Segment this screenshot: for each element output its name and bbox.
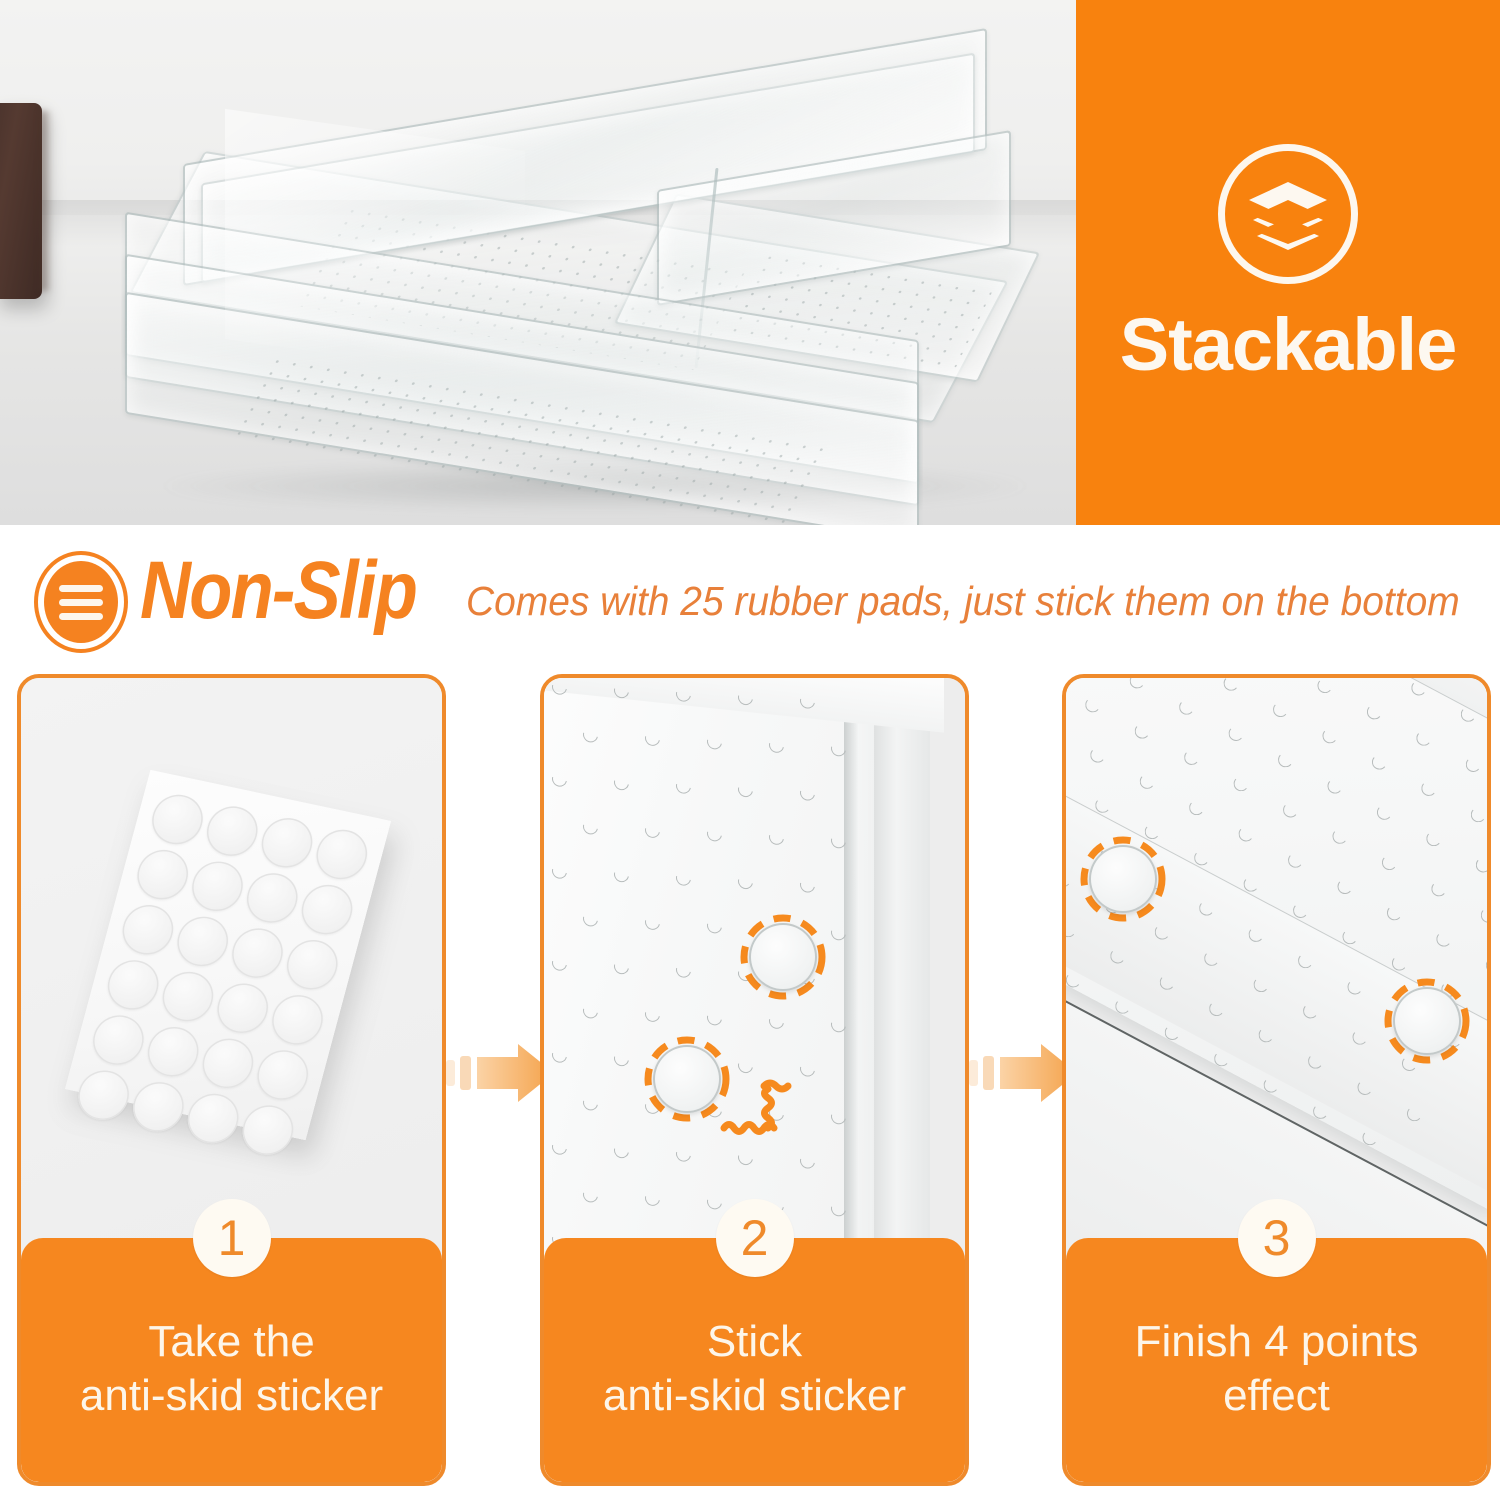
- tray-dimple: [1386, 905, 1402, 921]
- tray-dimple: [1317, 678, 1333, 694]
- tray-dimple: [1460, 706, 1476, 722]
- tray-dimple: [1134, 723, 1150, 739]
- rubber-pad: [127, 1077, 189, 1136]
- tray-dimple: [1357, 1079, 1373, 1095]
- step-1-caption-text: Take the anti-skid sticker: [62, 1315, 401, 1422]
- sticker-sheet: [65, 770, 391, 1140]
- tray-dimple: [1095, 797, 1111, 813]
- tray-dimple: [735, 779, 756, 799]
- tray-dimple: [1337, 879, 1353, 895]
- tray-dimple: [1233, 776, 1249, 792]
- layers-icon: [1218, 144, 1358, 284]
- tray-dimple: [1090, 747, 1106, 763]
- tray-dimple: [1214, 1051, 1230, 1067]
- tray-dimple: [1391, 955, 1407, 971]
- tray-dimple: [797, 783, 818, 803]
- tray-dimple: [1223, 678, 1239, 691]
- step-2-caption-bar: 2 Stick anti-skid sticker: [544, 1238, 965, 1482]
- rubber-pad: [157, 967, 219, 1026]
- tray-dimple: [673, 960, 694, 980]
- rubber-pad: [102, 956, 164, 1015]
- tray-dimple: [1303, 1003, 1319, 1019]
- tray-dimple: [704, 916, 725, 936]
- highlighted-pad-bottom-right: [1384, 978, 1470, 1064]
- brown-box-prop: [0, 103, 42, 299]
- tray-dimple: [735, 871, 756, 891]
- tray-dimple: [1199, 900, 1215, 916]
- tray-dimple: [1288, 852, 1304, 868]
- rubber-pad: [87, 1011, 149, 1070]
- rubber-pad-disc: [1393, 987, 1461, 1055]
- tray-dimple: [766, 827, 787, 847]
- tray-dimple: [549, 769, 570, 789]
- tray-dimple: [1085, 697, 1101, 713]
- stackable-feature-card: Stackable: [1076, 0, 1500, 525]
- tray-dimple: [1283, 802, 1299, 818]
- tray-dimple: [797, 875, 818, 895]
- tray-dimple: [673, 1144, 694, 1164]
- tray-dimple: [1376, 804, 1392, 820]
- tray-dimple: [1066, 972, 1081, 988]
- tray-dimple: [1258, 1027, 1274, 1043]
- rubber-pad: [73, 1066, 135, 1125]
- tray-dimple: [1381, 855, 1397, 871]
- step-2-number: 2: [716, 1199, 794, 1277]
- rubber-pad-disc: [749, 923, 817, 991]
- tray-dimple: [1243, 876, 1259, 892]
- tray-dimple: [1327, 778, 1343, 794]
- tray-dimple: [611, 680, 632, 700]
- step-3-caption-bar: 3 Finish 4 points effect: [1066, 1238, 1487, 1482]
- rubber-pad: [267, 990, 329, 1049]
- tray-dimple: [1293, 902, 1309, 918]
- tray-dimple: [1308, 1053, 1324, 1069]
- tray-dimple: [735, 687, 756, 707]
- rubber-pad: [296, 880, 358, 939]
- tray-dimple: [1421, 780, 1437, 796]
- tray-dimple: [1411, 680, 1427, 696]
- tray-dimple: [611, 864, 632, 884]
- tray-dimple: [549, 1045, 570, 1065]
- tray-dimple: [1179, 699, 1195, 715]
- top-band: Stackable: [0, 0, 1500, 525]
- tray-dimple: [1066, 922, 1076, 938]
- tray-dimple: [1332, 828, 1348, 844]
- tray-dimple: [1253, 977, 1269, 993]
- tray-dimple: [1347, 979, 1363, 995]
- tray-dimple: [1066, 871, 1071, 887]
- tray-dimple: [1342, 929, 1358, 945]
- rubber-pad-disc: [1089, 845, 1157, 913]
- stackable-title: Stackable: [1120, 308, 1457, 382]
- tray-dimple: [828, 831, 849, 851]
- step-1-number: 1: [193, 1199, 271, 1277]
- tray-dimple: [549, 953, 570, 973]
- tray-dimple: [1313, 1103, 1329, 1119]
- tray-dimple: [1184, 749, 1200, 765]
- tray-dimple: [580, 909, 601, 929]
- tray-dimple: [611, 1048, 632, 1068]
- tray-dimple: [1228, 725, 1244, 741]
- rubber-pad: [252, 1046, 314, 1105]
- tray-dimple: [611, 1140, 632, 1160]
- tray-dimple: [1322, 728, 1338, 744]
- tray-dimple: [828, 1015, 849, 1035]
- tray-dimple: [828, 923, 849, 943]
- tray-dimple: [1194, 850, 1210, 866]
- rubber-pad: [182, 1089, 244, 1148]
- tray-dimple: [1436, 931, 1452, 947]
- tray-dimple: [766, 735, 787, 755]
- rubber-pad-disc: [653, 1045, 721, 1113]
- rubber-pad: [172, 912, 234, 971]
- hero-product-photo: [0, 0, 1076, 525]
- tray-dimple: [1209, 1001, 1225, 1017]
- highlighted-pad-upper: [740, 914, 826, 1000]
- tray-dimple: [580, 1093, 601, 1113]
- tray-dimple: [1238, 826, 1254, 842]
- tray-dimple: [642, 1188, 663, 1208]
- tray-dimple: [1366, 704, 1382, 720]
- tray-dimple: [580, 817, 601, 837]
- tray-dimple: [673, 868, 694, 888]
- rubber-pad: [227, 924, 289, 983]
- tray-dimple: [1273, 702, 1289, 718]
- rubber-pad: [241, 869, 303, 928]
- tray-dimple: [1154, 924, 1170, 940]
- step-panel-3: 3 Finish 4 points effect: [1062, 674, 1491, 1486]
- tray-dimple: [1416, 730, 1432, 746]
- tray-dimple: [673, 684, 694, 704]
- tray-dimple: [611, 956, 632, 976]
- rubber-pad: [132, 845, 194, 904]
- tray-dimple: [1139, 773, 1155, 789]
- tray-dimple: [1371, 754, 1387, 770]
- tray-dimple: [1362, 1130, 1378, 1146]
- highlighted-pad-lower: [644, 1036, 730, 1122]
- tray-dimple: [549, 861, 570, 881]
- tray-dimple: [1129, 678, 1145, 689]
- tray-dimple: [1352, 1029, 1368, 1045]
- tray-dimple: [642, 1004, 663, 1024]
- rubber-pad: [197, 1034, 259, 1093]
- tray-dimple: [673, 776, 694, 796]
- tray-dimple: [704, 1008, 725, 1028]
- tray-dimple: [642, 820, 663, 840]
- tray-dimple: [1189, 800, 1205, 816]
- non-slip-title: Non-Slip: [140, 544, 416, 638]
- tray-dimple: [1431, 881, 1447, 897]
- tray-dimple: [1115, 998, 1131, 1014]
- rubber-pad: [237, 1101, 299, 1160]
- rubber-pad-grid: [73, 790, 373, 1159]
- product-infographic: Stackable Non-Slip Comes with 25 rubber …: [0, 0, 1500, 1487]
- tray-dimple: [1480, 907, 1487, 923]
- tray-dimple: [1485, 957, 1487, 973]
- tray-dimple: [828, 1199, 849, 1219]
- step-panel-1: 1 Take the anti-skid sticker: [17, 674, 446, 1486]
- tray-dimple: [1110, 948, 1126, 964]
- step-1-caption-bar: 1 Take the anti-skid sticker: [21, 1238, 442, 1482]
- step-2-caption-text: Stick anti-skid sticker: [585, 1315, 924, 1422]
- tray-dimple: [1475, 857, 1487, 873]
- non-slip-header: Non-Slip Comes with 25 rubber pads, just…: [0, 548, 1500, 658]
- rubber-pad: [147, 790, 209, 849]
- tray-dimple: [549, 1137, 570, 1157]
- tray-dimple: [1298, 953, 1314, 969]
- tray-dimple: [1204, 950, 1220, 966]
- tray-dimple: [580, 1185, 601, 1205]
- rubber-pad: [212, 979, 274, 1038]
- tray-dimple: [1470, 807, 1486, 823]
- rubber-pad: [281, 935, 343, 994]
- highlighted-pad-top-left: [1080, 836, 1166, 922]
- tray-dimple: [580, 725, 601, 745]
- clear-tray-stack: [105, 60, 1035, 500]
- tray-dimple: [1263, 1077, 1279, 1093]
- step-3-caption-text: Finish 4 points effect: [1117, 1315, 1437, 1422]
- tray-dimple: [1465, 756, 1481, 772]
- tray-dimple: [1278, 752, 1294, 768]
- tray-dimple: [580, 1001, 601, 1021]
- tray-dimple: [1164, 1025, 1180, 1041]
- tray-dimple: [549, 677, 570, 697]
- rubber-pad: [311, 825, 373, 884]
- tray-dimple: [704, 824, 725, 844]
- tray-dimple: [1426, 831, 1442, 847]
- tray-dimple: [704, 1192, 725, 1212]
- tray-dimple: [704, 732, 725, 752]
- tray-dimple: [828, 739, 849, 759]
- rubber-pad: [256, 813, 318, 872]
- non-slip-lines-icon: [33, 550, 129, 654]
- rubber-pad: [142, 1022, 204, 1081]
- tray-dimple: [1406, 1106, 1422, 1122]
- tray-dimple: [642, 728, 663, 748]
- tray-dimple: [611, 772, 632, 792]
- tray-dimple: [1248, 926, 1264, 942]
- rubber-pad: [187, 857, 249, 916]
- tray-dimple: [1159, 974, 1175, 990]
- tray-dimple: [797, 691, 818, 711]
- non-slip-subtitle: Comes with 25 rubber pads, just stick th…: [466, 578, 1460, 625]
- step-3-number: 3: [1238, 1199, 1316, 1277]
- step-panel-2: 2 Stick anti-skid sticker: [540, 674, 969, 1486]
- zigzag-motion-arrow: [720, 1072, 840, 1160]
- tray-dimple: [766, 1011, 787, 1031]
- rubber-pad: [117, 900, 179, 959]
- rubber-pad: [201, 802, 263, 861]
- tray-dimple: [642, 912, 663, 932]
